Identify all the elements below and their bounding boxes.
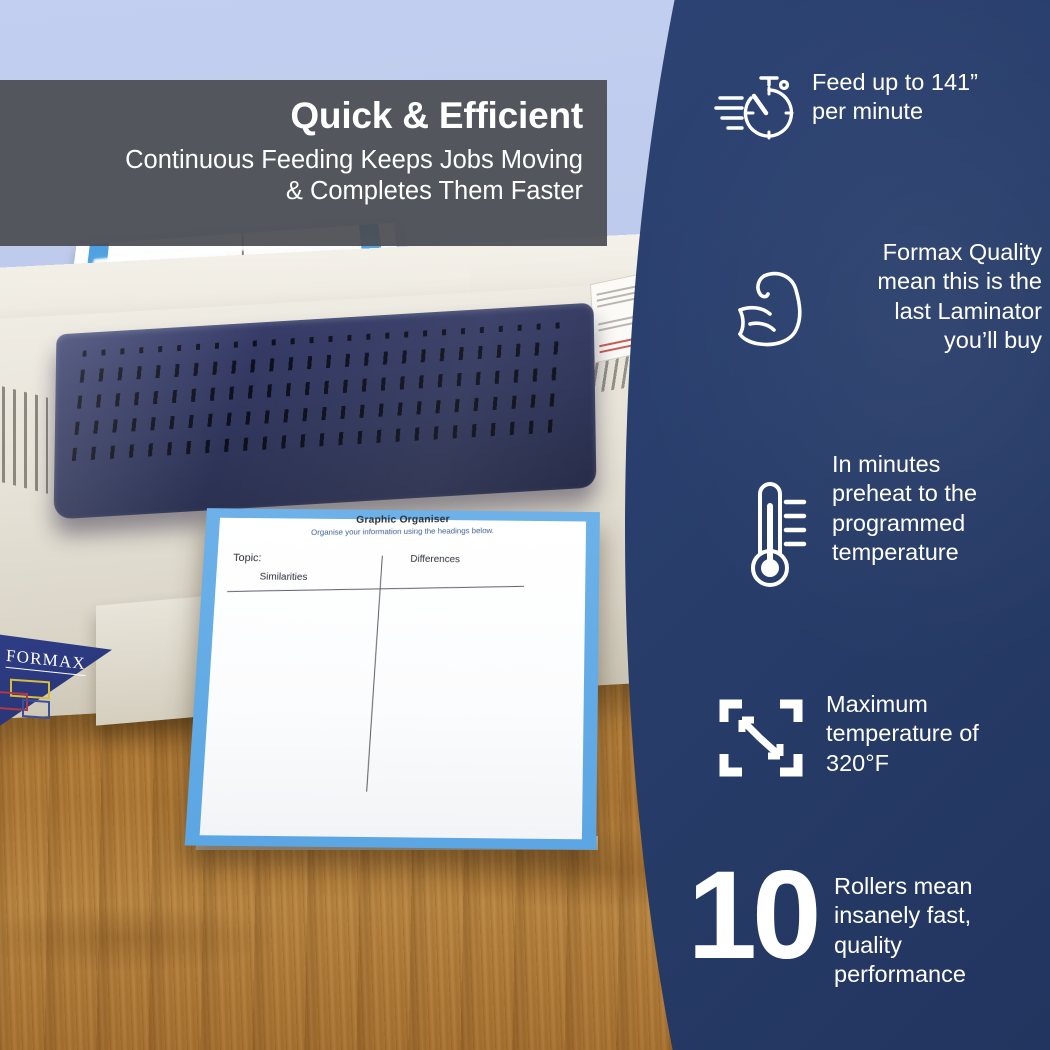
feature-preheat-line3: programmed [832,509,1032,538]
worksheet-page: Graphic Organiser Organise your informat… [200,518,586,840]
feature-max-line2: temperature of [826,719,1026,748]
feature-text-rollers: Rollers mean insanely fast, quality perf… [834,872,1042,990]
feature-preheat-line2: preheat to the [832,479,1032,508]
laminated-worksheet: Graphic Organiser Organise your informat… [185,508,600,850]
headline-subtitle-line1: Continuous Feeding Keeps Jobs Moving [24,145,583,176]
feature-item-speed: Feed up to 141” per minute [714,68,1042,146]
worksheet-topic-label: Topic: [233,552,262,564]
feature-item-rollers: 10 Rollers mean insanely fast, quality p… [676,862,1042,990]
feature-max-line3: 320°F [826,749,1026,778]
feature-quality-line3: last Laminator [830,297,1042,326]
stopwatch-speed-icon [714,68,798,146]
worksheet-subtitle: Organise your information using the head… [219,525,586,537]
worksheet-vertical-rule [366,556,383,792]
cover-gloss-highlight [54,303,597,520]
feature-list: Feed up to 141” per minute Formax Qualit… [700,0,1050,1050]
feature-item-max-temp: Maximum temperature of 320°F [718,690,1026,780]
feature-rollers-line2: insanely fast, [834,901,1042,930]
thermometer-icon [738,476,810,596]
feature-rollers-line3: quality [834,931,1042,960]
feature-item-preheat: In minutes preheat to the programmed tem… [738,450,1032,596]
feature-quality-line2: mean this is the [830,267,1042,296]
feature-rollers-line1: Rollers mean [834,872,1042,901]
badge-square-blue [22,699,50,719]
feature-text-quality: Formax Quality mean this is the last Lam… [830,238,1042,356]
worksheet-column-differences: Differences [410,554,460,565]
left-vent-grille [2,386,48,493]
feature-text-max-temp: Maximum temperature of 320°F [826,690,1026,778]
worksheet-title: Graphic Organiser [220,512,587,527]
worksheet-horizontal-rule [227,586,524,592]
laminator-navy-cover [54,303,597,520]
feature-quality-line4: you’ll buy [830,326,1042,355]
feature-preheat-line4: temperature [832,538,1032,567]
headline-box: Quick & Efficient Continuous Feeding Kee… [0,80,607,246]
feature-speed-line1: Feed up to 141” [812,68,1042,97]
headline-subtitle-line2: & Completes Them Faster [24,176,583,207]
maximize-expand-icon [718,696,804,780]
feature-max-line1: Maximum [826,690,1026,719]
page-title: Quick & Efficient [24,96,583,137]
flexed-bicep-icon [730,264,816,356]
worksheet-column-similarities: Similarities [259,572,307,583]
feature-speed-line2: per minute [812,97,1042,126]
feature-rollers-line4: performance [834,960,1042,989]
roller-count-number: 10 [676,862,828,970]
infographic-canvas: TEMP 110 HOT ▲ ▼ COLD FORMAX Graphic Org… [0,0,1050,1050]
feature-text-preheat: In minutes preheat to the programmed tem… [832,450,1032,568]
feature-item-quality: Formax Quality mean this is the last Lam… [730,238,1042,356]
feature-quality-line1: Formax Quality [830,238,1042,267]
feature-preheat-line1: In minutes [832,450,1032,479]
feature-text-speed: Feed up to 141” per minute [812,68,1042,127]
